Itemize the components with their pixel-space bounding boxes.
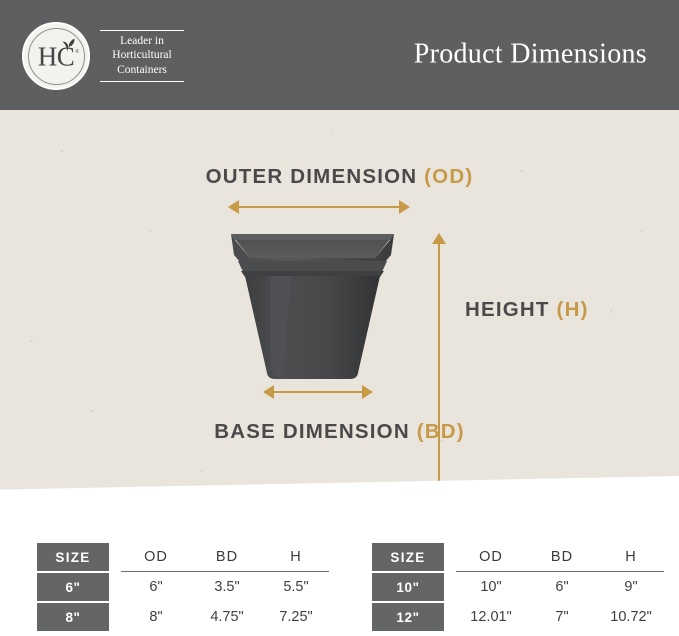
outer-dimension-arrow — [228, 200, 410, 214]
panel-bottom-edge — [0, 475, 679, 522]
table-row: 10" 10" 6" 9" — [372, 573, 664, 601]
arrow-shaft — [438, 239, 440, 490]
column-header-size: SIZE — [372, 543, 444, 571]
column-header-h: H — [263, 543, 329, 571]
base-dimension-text: BASE DIMENSION — [214, 420, 417, 443]
cell-od: 10" — [456, 573, 526, 601]
page-title: Product Dimensions — [414, 38, 647, 70]
base-dimension-arrow — [263, 385, 373, 399]
base-dimension-code: (BD) — [417, 420, 465, 443]
cell-h: 10.72" — [598, 603, 664, 631]
dimensions-table-large: SIZE OD BD H 10" 10" 6" 9" 12" 12.01" 7"… — [372, 543, 664, 633]
texture-speck — [640, 230, 642, 232]
texture-speck — [520, 170, 523, 172]
table-header-row: SIZE OD BD H — [37, 543, 329, 571]
table-header-row: SIZE OD BD H — [372, 543, 664, 571]
height-text: HEIGHT — [465, 298, 557, 321]
diagram-panel: OUTER DIMENSION (OD) — [0, 110, 679, 522]
cell-bd: 7" — [526, 603, 598, 631]
column-header-bd: BD — [191, 543, 263, 571]
cell-bd: 4.75" — [191, 603, 263, 631]
tagline-line-2: Horticultural — [100, 48, 184, 63]
logo-badge-icon: HC ® — [22, 22, 90, 90]
tagline-line-1: Leader in — [100, 34, 184, 49]
cell-od: 8" — [121, 603, 191, 631]
table-row: 8" 8" 4.75" 7.25" — [37, 603, 329, 631]
arrow-shaft — [269, 391, 367, 393]
planter-collar — [238, 261, 387, 272]
texture-speck — [30, 340, 33, 342]
texture-speck — [200, 470, 202, 472]
height-label: HEIGHT (H) — [465, 298, 589, 322]
outer-dimension-label: OUTER DIMENSION (OD) — [206, 165, 474, 189]
header-bar: HC ® Leader in Horticultural Containers … — [0, 0, 679, 110]
base-dimension-label: BASE DIMENSION (BD) — [214, 420, 465, 444]
cell-h: 7.25" — [263, 603, 329, 631]
column-header-size: SIZE — [37, 543, 109, 571]
brand-logo: HC ® Leader in Horticultural Containers — [22, 20, 192, 92]
planter-rim-top — [231, 234, 394, 240]
texture-speck — [150, 230, 152, 232]
planter-illustration — [225, 228, 400, 383]
texture-speck — [330, 130, 332, 132]
cell-h: 5.5" — [263, 573, 329, 601]
trademark-mark: ® — [75, 49, 79, 55]
column-header-od: OD — [121, 543, 191, 571]
column-header-h: H — [598, 543, 664, 571]
arrow-shaft — [234, 206, 404, 208]
logo-monogram: HC — [24, 42, 88, 73]
cell-h: 9" — [598, 573, 664, 601]
cell-bd: 6" — [526, 573, 598, 601]
arrow-head-right-icon — [362, 385, 373, 399]
dimensions-table-small: SIZE OD BD H 6" 6" 3.5" 5.5" 8" 8" 4.75"… — [37, 543, 329, 633]
column-header-od: OD — [456, 543, 526, 571]
texture-speck — [90, 410, 94, 412]
outer-dimension-text: OUTER DIMENSION — [206, 165, 425, 188]
cell-bd: 3.5" — [191, 573, 263, 601]
height-code: (H) — [557, 298, 589, 321]
cell-size: 8" — [37, 603, 109, 631]
cell-size: 12" — [372, 603, 444, 631]
table-row: 12" 12.01" 7" 10.72" — [372, 603, 664, 631]
tagline-line-3: Containers — [100, 63, 184, 78]
texture-speck — [610, 310, 612, 313]
arrow-head-right-icon — [399, 200, 410, 214]
brand-tagline: Leader in Horticultural Containers — [100, 30, 184, 83]
cell-od: 6" — [121, 573, 191, 601]
height-arrow — [432, 233, 446, 496]
column-header-bd: BD — [526, 543, 598, 571]
cell-size: 6" — [37, 573, 109, 601]
cell-od: 12.01" — [456, 603, 526, 631]
table-row: 6" 6" 3.5" 5.5" — [37, 573, 329, 601]
planter-body — [245, 276, 380, 379]
texture-speck — [60, 150, 63, 152]
leaf-icon — [58, 37, 78, 53]
cell-size: 10" — [372, 573, 444, 601]
outer-dimension-code: (OD) — [424, 165, 473, 188]
planter-interior — [235, 239, 390, 258]
